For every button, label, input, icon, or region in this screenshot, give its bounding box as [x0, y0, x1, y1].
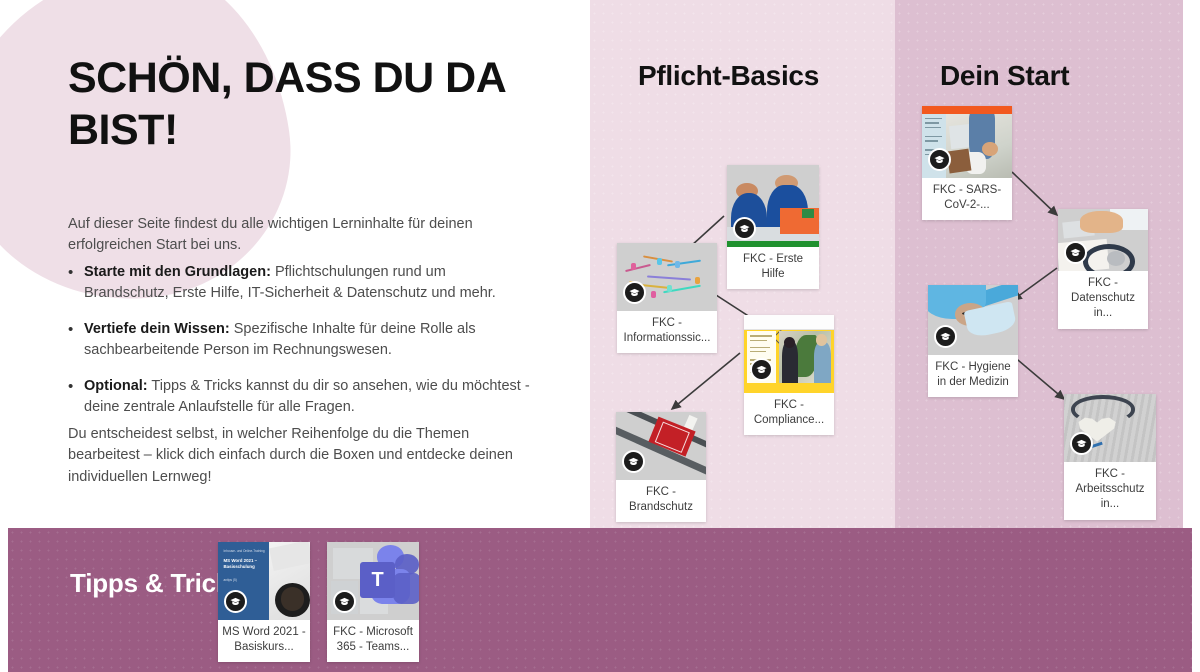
page-title: SCHÖN, DASS DU DA BIST!: [68, 52, 588, 157]
thumb-shape: [393, 573, 419, 604]
card-microsoft-teams[interactable]: T FKC - Microsoft 365 - Teams...: [327, 542, 419, 662]
thumb-shape: [647, 275, 691, 280]
thumb-shape: [925, 127, 942, 128]
thumb-shape: [925, 136, 942, 137]
thumb-shape: [982, 142, 998, 156]
intro-paragraph: Auf dieser Seite findest du alle wichtig…: [68, 214, 508, 257]
bullet-lead: Starte mit den Grundlagen:: [84, 264, 271, 280]
graduation-cap-icon: [733, 217, 756, 240]
graduation-cap-icon: [928, 148, 951, 171]
card-thumbnail: [616, 412, 706, 480]
thumb-shape: [657, 258, 662, 265]
thumb-shape: [631, 263, 636, 270]
graduation-cap-icon: [1070, 432, 1093, 455]
thumb-shape: [1080, 211, 1123, 232]
thumb-shape: [727, 241, 819, 247]
graduation-cap-icon: [622, 450, 645, 473]
card-brandschutz[interactable]: FKC - Brandschutz: [616, 412, 706, 522]
thumb-shape: [281, 587, 305, 610]
list-item: Vertiefe dein Wissen: Spezifische Inhalt…: [68, 319, 530, 362]
card-thumbnail: [727, 165, 819, 247]
card-caption: FKC - Datenschutz in...: [1058, 271, 1148, 329]
graduation-cap-icon: [750, 358, 773, 381]
card-thumbnail: [928, 285, 1018, 355]
graduation-cap-icon: [1064, 241, 1087, 264]
teams-logo-icon: T: [360, 562, 395, 598]
thumb-shape: [816, 334, 827, 345]
card-thumbnail: T: [327, 542, 419, 620]
thumb-shape: [667, 285, 672, 292]
slide-canvas: SCHÖN, DASS DU DA BIST! Auf dieser Seite…: [0, 0, 1200, 672]
thumb-shape: [651, 291, 656, 298]
card-caption: FKC - Informationssic...: [617, 311, 717, 353]
thumb-shape: [922, 106, 1012, 114]
graduation-cap-icon: [333, 590, 356, 613]
card-hygiene[interactable]: FKC - Hygiene in der Medizin: [928, 285, 1018, 397]
thumb-photo: [779, 331, 831, 382]
column-title-dein-start: Dein Start: [940, 58, 1160, 94]
card-caption: FKC - Erste Hilfe: [727, 247, 819, 289]
outro-paragraph: Du entscheidest selbst, in welcher Reihe…: [68, 424, 520, 488]
teams-logo-letter: T: [371, 570, 383, 590]
thumb-shape: [750, 340, 768, 342]
thumb-photo: [946, 114, 1012, 178]
thumb-shape: [695, 277, 700, 284]
card-caption: FKC - SARS-CoV-2-...: [922, 178, 1012, 220]
card-caption: FKC - Brandschutz: [616, 480, 706, 522]
card-thumbnail: Inhouse- und Online-Training MS Word 202…: [218, 542, 310, 620]
card-sars-cov-2[interactable]: FKC - SARS-CoV-2-...: [922, 106, 1012, 220]
graduation-cap-icon: [623, 281, 646, 304]
thumb-shape: [802, 209, 814, 218]
bullet-lead: Optional:: [84, 378, 148, 394]
thumb-shape: [625, 264, 651, 272]
graduation-cap-icon: [224, 590, 247, 613]
thumb-shape: [784, 337, 795, 348]
thumb-subtitle-bottom: antips (5): [224, 578, 266, 582]
list-item: Starte mit den Grundlagen: Pflichtschulu…: [68, 262, 530, 305]
thumb-shape: [750, 335, 773, 337]
card-caption: FKC - Hygiene in der Medizin: [928, 355, 1018, 397]
thumb-shape: [925, 122, 940, 123]
thumb-shape: [750, 351, 766, 353]
thumb-shape: [925, 140, 938, 141]
bullet-list: Starte mit den Grundlagen: Pflichtschulu…: [68, 262, 530, 433]
card-ms-word[interactable]: Inhouse- und Online-Training MS Word 202…: [218, 542, 310, 662]
list-item: Optional: Tipps & Tricks kannst du dir s…: [68, 376, 530, 419]
card-caption: FKC - Arbeitsschutz in...: [1064, 462, 1156, 520]
card-compliance[interactable]: FKC - Compliance...: [744, 315, 834, 435]
card-caption: FKC - Compliance...: [744, 393, 834, 435]
bullet-lead: Vertiefe dein Wissen:: [84, 321, 230, 337]
card-caption: FKC - Microsoft 365 - Teams...: [327, 620, 419, 662]
thumb-subtitle-top: Inhouse- und Online-Training: [224, 549, 270, 553]
card-informationssicherheit[interactable]: FKC - Informationssic...: [617, 243, 717, 353]
card-thumbnail: [1058, 209, 1148, 271]
thumb-title: MS Word 2021 – Basisschulung: [224, 558, 268, 570]
card-arbeitsschutz[interactable]: FKC - Arbeitsschutz in...: [1064, 394, 1156, 520]
thumb-shape: [1107, 251, 1125, 266]
graduation-cap-icon: [934, 325, 957, 348]
card-thumbnail: [744, 315, 834, 393]
thumb-shape: [814, 342, 832, 383]
thumb-shape: [675, 261, 680, 268]
card-datenschutz[interactable]: FKC - Datenschutz in...: [1058, 209, 1148, 329]
card-thumbnail: [1064, 394, 1156, 462]
bullet-text: Tipps & Tricks kannst du dir so ansehen,…: [84, 378, 530, 415]
card-caption: MS Word 2021 - Basiskurs...: [218, 620, 310, 662]
card-thumbnail: [617, 243, 717, 311]
column-title-pflicht-basics: Pflicht-Basics: [638, 58, 838, 94]
card-thumbnail: [922, 106, 1012, 178]
thumb-toolbar: [744, 315, 834, 330]
thumb-shape: [750, 347, 771, 349]
card-erste-hilfe[interactable]: FKC - Erste Hilfe: [727, 165, 819, 289]
thumb-shape: [925, 118, 942, 119]
